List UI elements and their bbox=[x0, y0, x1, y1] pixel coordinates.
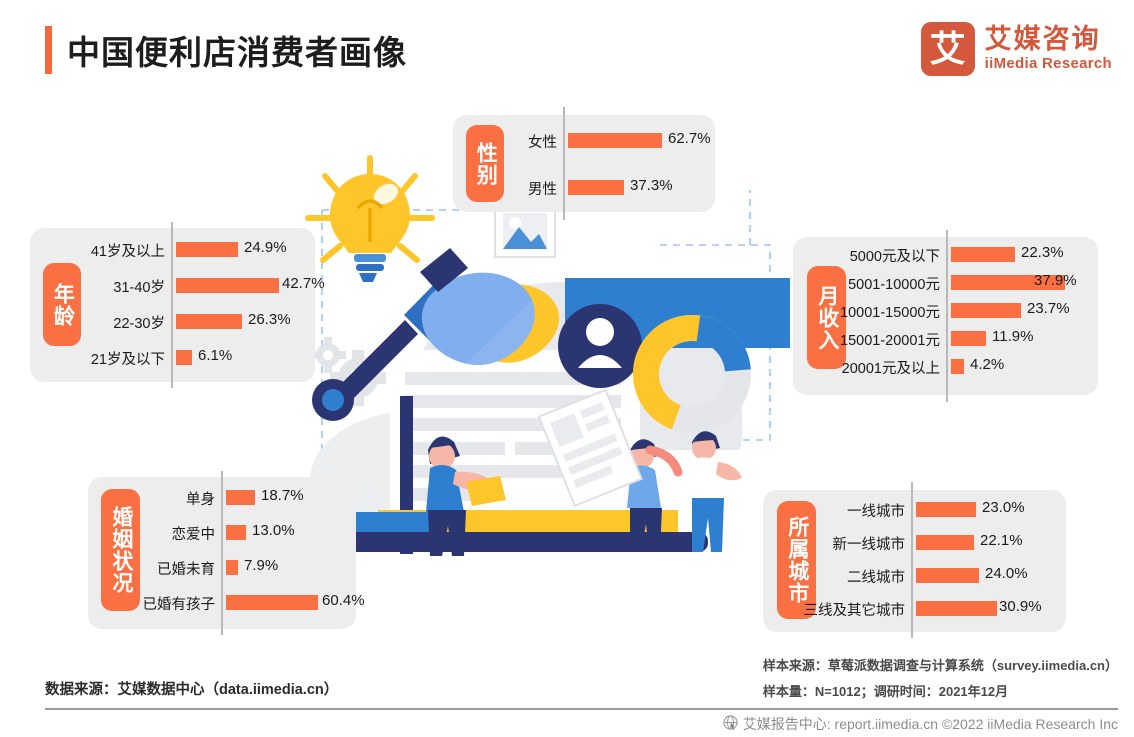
bar-value: 22.1% bbox=[980, 532, 1023, 549]
bar-fill bbox=[951, 247, 1015, 262]
bar-fill bbox=[226, 560, 238, 575]
bar-value: 4.2% bbox=[970, 356, 1004, 373]
panel-axis-gender bbox=[563, 107, 565, 220]
bar-value: 6.1% bbox=[198, 347, 232, 364]
bar-label: 5001-10000元 bbox=[841, 273, 940, 294]
logo-mark-icon: 艾 bbox=[921, 22, 975, 76]
bar-fill bbox=[916, 568, 979, 583]
bar-label: 20001元及以上 bbox=[831, 357, 940, 378]
logo-text: 艾媒咨询 iiMedia Research bbox=[985, 25, 1112, 73]
panel-axis-income bbox=[946, 230, 948, 402]
bar-value: 13.0% bbox=[252, 522, 295, 539]
central-illustration bbox=[300, 150, 840, 600]
footer-report-center: 艾媒报告中心: report.iimedia.cn ©2022 iiMedia … bbox=[723, 714, 1118, 734]
brand-logo: 艾 艾媒咨询 iiMedia Research bbox=[921, 22, 1112, 76]
bar-label: 男性 bbox=[505, 178, 557, 199]
bar-value: 26.3% bbox=[248, 311, 291, 328]
bar-value: 60.4% bbox=[322, 592, 365, 609]
panel-axis-marriage bbox=[221, 471, 223, 635]
panel-axis-age bbox=[171, 222, 173, 388]
globe-icon bbox=[723, 715, 738, 733]
bar-label: 已婚有孩子 bbox=[118, 593, 215, 614]
bar-value: 7.9% bbox=[244, 557, 278, 574]
bar-fill bbox=[226, 595, 318, 610]
logo-name-cn: 艾媒咨询 bbox=[985, 25, 1112, 53]
bar-label: 31-40岁 bbox=[75, 276, 165, 297]
bar-fill bbox=[226, 525, 246, 540]
bar-label: 10001-15000元 bbox=[831, 301, 940, 322]
footer-sample-source: 样本来源：草莓派数据调查与计算系统（survey.iimedia.cn） bbox=[763, 655, 1118, 674]
bar-value: 42.7% bbox=[282, 275, 325, 292]
bar-fill bbox=[951, 331, 986, 346]
footer-data-source: 数据来源：艾媒数据中心（data.iimedia.cn） bbox=[45, 678, 338, 699]
bar-fill bbox=[951, 359, 964, 374]
bar-value: 22.3% bbox=[1021, 244, 1064, 261]
panel-income: 月收入 5000元及以下 22.3% 5001-10000元 37.9% 100… bbox=[793, 237, 1098, 395]
bar-value: 24.0% bbox=[985, 565, 1028, 582]
bar-fill bbox=[176, 350, 192, 365]
bar-label: 41岁及以上 bbox=[75, 240, 165, 261]
bar-value: 37.9% bbox=[1034, 272, 1077, 289]
bar-value: 62.7% bbox=[668, 130, 711, 147]
bar-label: 已婚未育 bbox=[128, 558, 215, 579]
footer-sample-info: 样本来源：草莓派数据调查与计算系统（survey.iimedia.cn） 样本量… bbox=[763, 655, 1118, 707]
bar-fill bbox=[568, 180, 624, 195]
footer-divider bbox=[45, 708, 1118, 710]
bar-fill bbox=[226, 490, 255, 505]
bar-label: 22-30岁 bbox=[75, 312, 165, 333]
bar-value: 11.9% bbox=[992, 328, 1033, 345]
bar-label: 21岁及以下 bbox=[75, 348, 165, 369]
panel-gender: 性别 女性 62.7% 男性 37.3% bbox=[453, 115, 715, 212]
bar-fill bbox=[951, 303, 1021, 318]
bar-label: 一线城市 bbox=[811, 500, 905, 521]
bar-value: 24.9% bbox=[244, 239, 287, 256]
logo-mark-glyph: 艾 bbox=[930, 31, 966, 67]
bar-label: 三线及其它城市 bbox=[786, 599, 905, 620]
panel-axis-city bbox=[911, 482, 913, 638]
bar-value: 37.3% bbox=[630, 177, 673, 194]
panel-age: 年龄 41岁及以上 24.9% 31-40岁 42.7% 22-30岁 26.3… bbox=[30, 228, 315, 382]
panel-marriage: 婚姻状况 单身 18.7% 恋爱中 13.0% 已婚未育 7.9% 已婚有孩子 … bbox=[88, 477, 356, 629]
bar-value: 30.9% bbox=[999, 598, 1042, 615]
bar-label: 5000元及以下 bbox=[841, 245, 940, 266]
bar-fill bbox=[176, 278, 279, 293]
bar-label: 女性 bbox=[505, 131, 557, 152]
bar-fill bbox=[176, 242, 238, 257]
bar-value: 23.0% bbox=[982, 499, 1025, 516]
bar-fill bbox=[916, 535, 974, 550]
title-accent-bar bbox=[45, 26, 52, 74]
bar-value: 23.7% bbox=[1027, 300, 1070, 317]
page-title: 中国便利店消费者画像 bbox=[45, 26, 407, 74]
panel-city: 所属城市 一线城市 23.0% 新一线城市 22.1% 二线城市 24.0% 三… bbox=[763, 490, 1066, 632]
bar-fill bbox=[568, 133, 662, 148]
bar-label: 二线城市 bbox=[811, 566, 905, 587]
panel-tag-gender: 性别 bbox=[466, 125, 504, 202]
infographic-root: 中国便利店消费者画像 艾 艾媒咨询 iiMedia Research bbox=[0, 0, 1134, 737]
logo-name-en: iiMedia Research bbox=[985, 55, 1112, 73]
bar-label: 新一线城市 bbox=[801, 533, 905, 554]
bar-value: 18.7% bbox=[261, 487, 304, 504]
bar-label: 15001-20001元 bbox=[831, 329, 940, 350]
bar-fill bbox=[176, 314, 242, 329]
footer-sample-size: 样本量：N=1012；调研时间：2021年12月 bbox=[763, 681, 1118, 700]
bar-fill bbox=[916, 601, 997, 616]
bar-label: 单身 bbox=[128, 488, 215, 509]
bar-label: 恋爱中 bbox=[128, 523, 215, 544]
footer-report-center-text: 艾媒报告中心: report.iimedia.cn ©2022 iiMedia … bbox=[743, 714, 1118, 734]
page-title-text: 中国便利店消费者画像 bbox=[67, 26, 407, 74]
bar-fill bbox=[916, 502, 976, 517]
